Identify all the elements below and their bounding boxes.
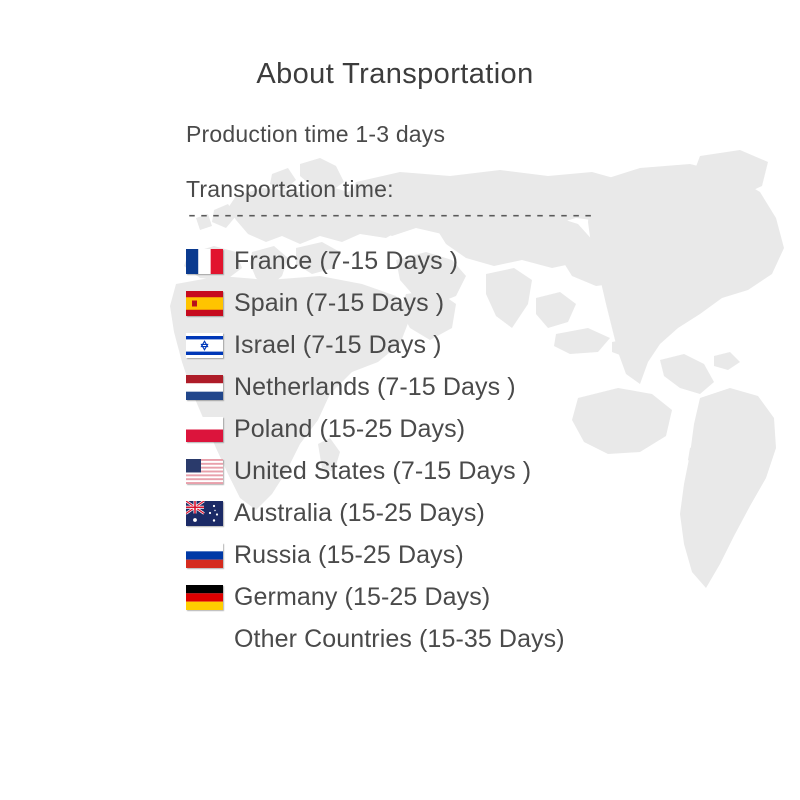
flag-spain-icon	[186, 291, 223, 316]
country-label: Other Countries (15-35 Days)	[234, 627, 565, 652]
flag-poland-icon	[186, 417, 223, 442]
flag-australia-icon	[186, 501, 223, 526]
production-time-text: Production time 1-3 days	[186, 121, 445, 148]
country-label: Netherlands (7-15 Days )	[234, 375, 516, 400]
flag-slot	[186, 324, 234, 366]
flag-slot	[186, 240, 234, 282]
list-item: Netherlands (7-15 Days )	[186, 366, 746, 408]
flag-slot	[186, 450, 234, 492]
country-label: United States (7-15 Days )	[234, 459, 531, 484]
list-item: United States (7-15 Days )	[186, 450, 746, 492]
dashed-divider: ----------------------------------------…	[186, 205, 596, 228]
page-title: About Transportation	[0, 58, 790, 91]
country-label: France (7-15 Days )	[234, 249, 458, 274]
country-label: Spain (7-15 Days )	[234, 291, 444, 316]
list-item: Germany (15-25 Days)	[186, 576, 746, 618]
flag-slot	[186, 534, 234, 576]
flag-slot	[186, 576, 234, 618]
country-label: Israel (7-15 Days )	[234, 333, 442, 358]
flag-germany-icon	[186, 585, 223, 610]
flag-slot	[186, 408, 234, 450]
country-label: Russia (15-25 Days)	[234, 543, 464, 568]
flag-israel-icon	[186, 333, 223, 358]
list-item: Australia (15-25 Days)	[186, 492, 746, 534]
list-item: France (7-15 Days )	[186, 240, 746, 282]
list-item: Poland (15-25 Days)	[186, 408, 746, 450]
content-layer: About Transportation Production time 1-3…	[0, 0, 800, 800]
list-item: Israel (7-15 Days )	[186, 324, 746, 366]
country-label: Poland (15-25 Days)	[234, 417, 465, 442]
flag-netherlands-icon	[186, 375, 223, 400]
list-item: Russia (15-25 Days)	[186, 534, 746, 576]
country-label: Australia (15-25 Days)	[234, 501, 485, 526]
flag-russia-icon	[186, 543, 223, 568]
list-item: Spain (7-15 Days )	[186, 282, 746, 324]
flag-france-icon	[186, 249, 223, 274]
list-item: Other Countries (15-35 Days)	[186, 618, 746, 660]
flag-slot-empty	[186, 618, 234, 660]
country-label: Germany (15-25 Days)	[234, 585, 490, 610]
transportation-info-graphic: About Transportation Production time 1-3…	[0, 0, 800, 800]
country-shipping-list: France (7-15 Days ) Spain (7-15 Days )	[186, 240, 746, 660]
flag-slot	[186, 366, 234, 408]
transportation-time-label: Transportation time:	[186, 176, 394, 203]
flag-slot	[186, 282, 234, 324]
flag-united-states-icon	[186, 459, 223, 484]
flag-slot	[186, 492, 234, 534]
